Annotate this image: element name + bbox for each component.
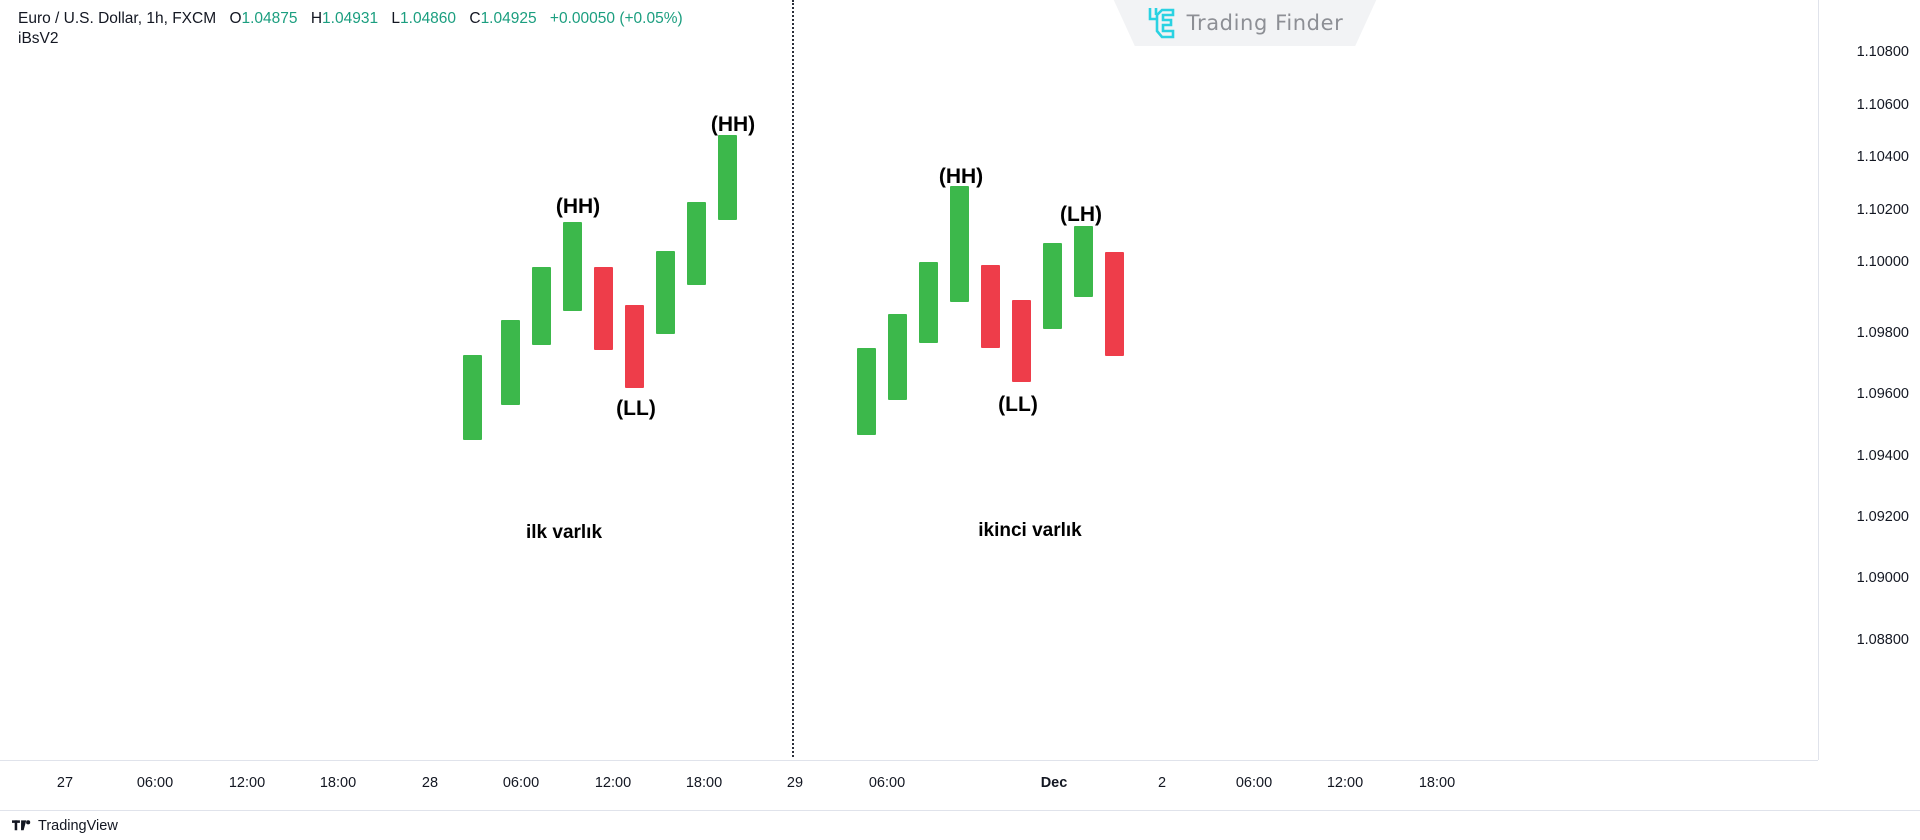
swing-label-lh-g2-3: (LH): [1060, 203, 1102, 227]
ohlc-close: C1.04925: [469, 10, 536, 27]
price-tick-1.10200: 1.10200: [1857, 202, 1909, 218]
group-label-1: ilk varlık: [526, 522, 602, 544]
candle-2-7-up: [1043, 243, 1062, 329]
swing-label-ll-g1-2: (LL): [616, 397, 656, 421]
candle-2-3-up: [919, 262, 938, 343]
price-tick-1.10000: 1.10000: [1857, 254, 1909, 270]
price-change-percent: (+0.05%): [619, 10, 682, 27]
time-tick-11: 2: [1158, 775, 1166, 791]
time-axis[interactable]: 2706:0012:0018:002806:0012:0018:002906:0…: [0, 760, 1818, 810]
chart-legend: Euro / U.S. Dollar, 1h, FXCM O1.04875 H1…: [18, 9, 683, 49]
time-tick-12: 06:00: [1236, 775, 1272, 791]
price-tick-1.10800: 1.10800: [1857, 44, 1909, 60]
ohlc-open: O1.04875: [229, 10, 297, 27]
candle-2-9-down: [1105, 252, 1124, 356]
time-tick-6: 12:00: [595, 775, 631, 791]
group-divider-line: [792, 0, 794, 757]
tradingview-label: TradingView: [38, 818, 118, 834]
price-tick-1.09000: 1.09000: [1857, 570, 1909, 586]
candle-2-5-down: [981, 265, 1000, 348]
price-tick-1.09600: 1.09600: [1857, 386, 1909, 402]
trading-finder-logo-icon: [1147, 6, 1177, 40]
candle-1-7-up: [656, 251, 675, 334]
time-tick-9: 06:00: [869, 775, 905, 791]
price-tick-1.09800: 1.09800: [1857, 325, 1909, 341]
candle-2-8-up: [1074, 226, 1093, 297]
chart-plot-area[interactable]: (HH)(LL)(HH)(HH)(LL)(LH) ilk varlıkikinc…: [0, 0, 1818, 760]
candle-1-1-up: [463, 355, 482, 440]
candle-1-3-up: [532, 267, 551, 345]
watermark-logo: Trading Finder: [1100, 0, 1390, 46]
time-tick-3: 18:00: [320, 775, 356, 791]
candle-1-9-up: [718, 135, 737, 220]
swing-label-hh-g2-1: (HH): [939, 165, 983, 189]
time-tick-1: 06:00: [137, 775, 173, 791]
indicator-legend-label[interactable]: iBsV2: [18, 29, 683, 49]
price-tick-1.08800: 1.08800: [1857, 632, 1909, 648]
swing-label-hh-g1-1: (HH): [556, 195, 600, 219]
time-tick-10: Dec: [1041, 775, 1068, 791]
time-tick-13: 12:00: [1327, 775, 1363, 791]
watermark-logo-text: Trading Finder: [1187, 11, 1344, 35]
time-tick-5: 06:00: [503, 775, 539, 791]
candle-1-5-down: [594, 267, 613, 350]
footer-bar: TradingView: [0, 810, 1920, 840]
time-tick-4: 28: [422, 775, 438, 791]
group-label-2: ikinci varlık: [978, 520, 1082, 542]
price-tick-1.09200: 1.09200: [1857, 509, 1909, 525]
chart-screenshot: Euro / U.S. Dollar, 1h, FXCM O1.04875 H1…: [0, 0, 1920, 840]
candle-1-8-up: [687, 202, 706, 285]
candle-2-6-down: [1012, 300, 1031, 382]
price-axis[interactable]: 1.108001.106001.104001.102001.100001.098…: [1818, 0, 1920, 760]
time-tick-0: 27: [57, 775, 73, 791]
symbol-title[interactable]: Euro / U.S. Dollar, 1h, FXCM: [18, 10, 216, 27]
tradingview-logo-icon: [12, 819, 31, 832]
candle-1-6-down: [625, 305, 644, 388]
price-change-absolute: +0.00050: [550, 10, 615, 27]
candle-1-2-up: [501, 320, 520, 405]
swing-label-ll-g2-2: (LL): [998, 393, 1038, 417]
ohlc-low: L1.04860: [391, 10, 456, 27]
price-tick-1.10400: 1.10400: [1857, 149, 1909, 165]
time-tick-7: 18:00: [686, 775, 722, 791]
candle-2-1-up: [857, 348, 876, 435]
time-tick-8: 29: [787, 775, 803, 791]
legend-symbol-row[interactable]: Euro / U.S. Dollar, 1h, FXCM O1.04875 H1…: [18, 9, 683, 28]
time-tick-14: 18:00: [1419, 775, 1455, 791]
price-tick-1.09400: 1.09400: [1857, 448, 1909, 464]
ohlc-high: H1.04931: [311, 10, 378, 27]
candle-2-2-up: [888, 314, 907, 400]
candle-2-4-up: [950, 186, 969, 302]
swing-label-hh-g1-3: (HH): [711, 113, 755, 137]
time-tick-2: 12:00: [229, 775, 265, 791]
candle-1-4-up: [563, 222, 582, 311]
price-tick-1.10600: 1.10600: [1857, 97, 1909, 113]
